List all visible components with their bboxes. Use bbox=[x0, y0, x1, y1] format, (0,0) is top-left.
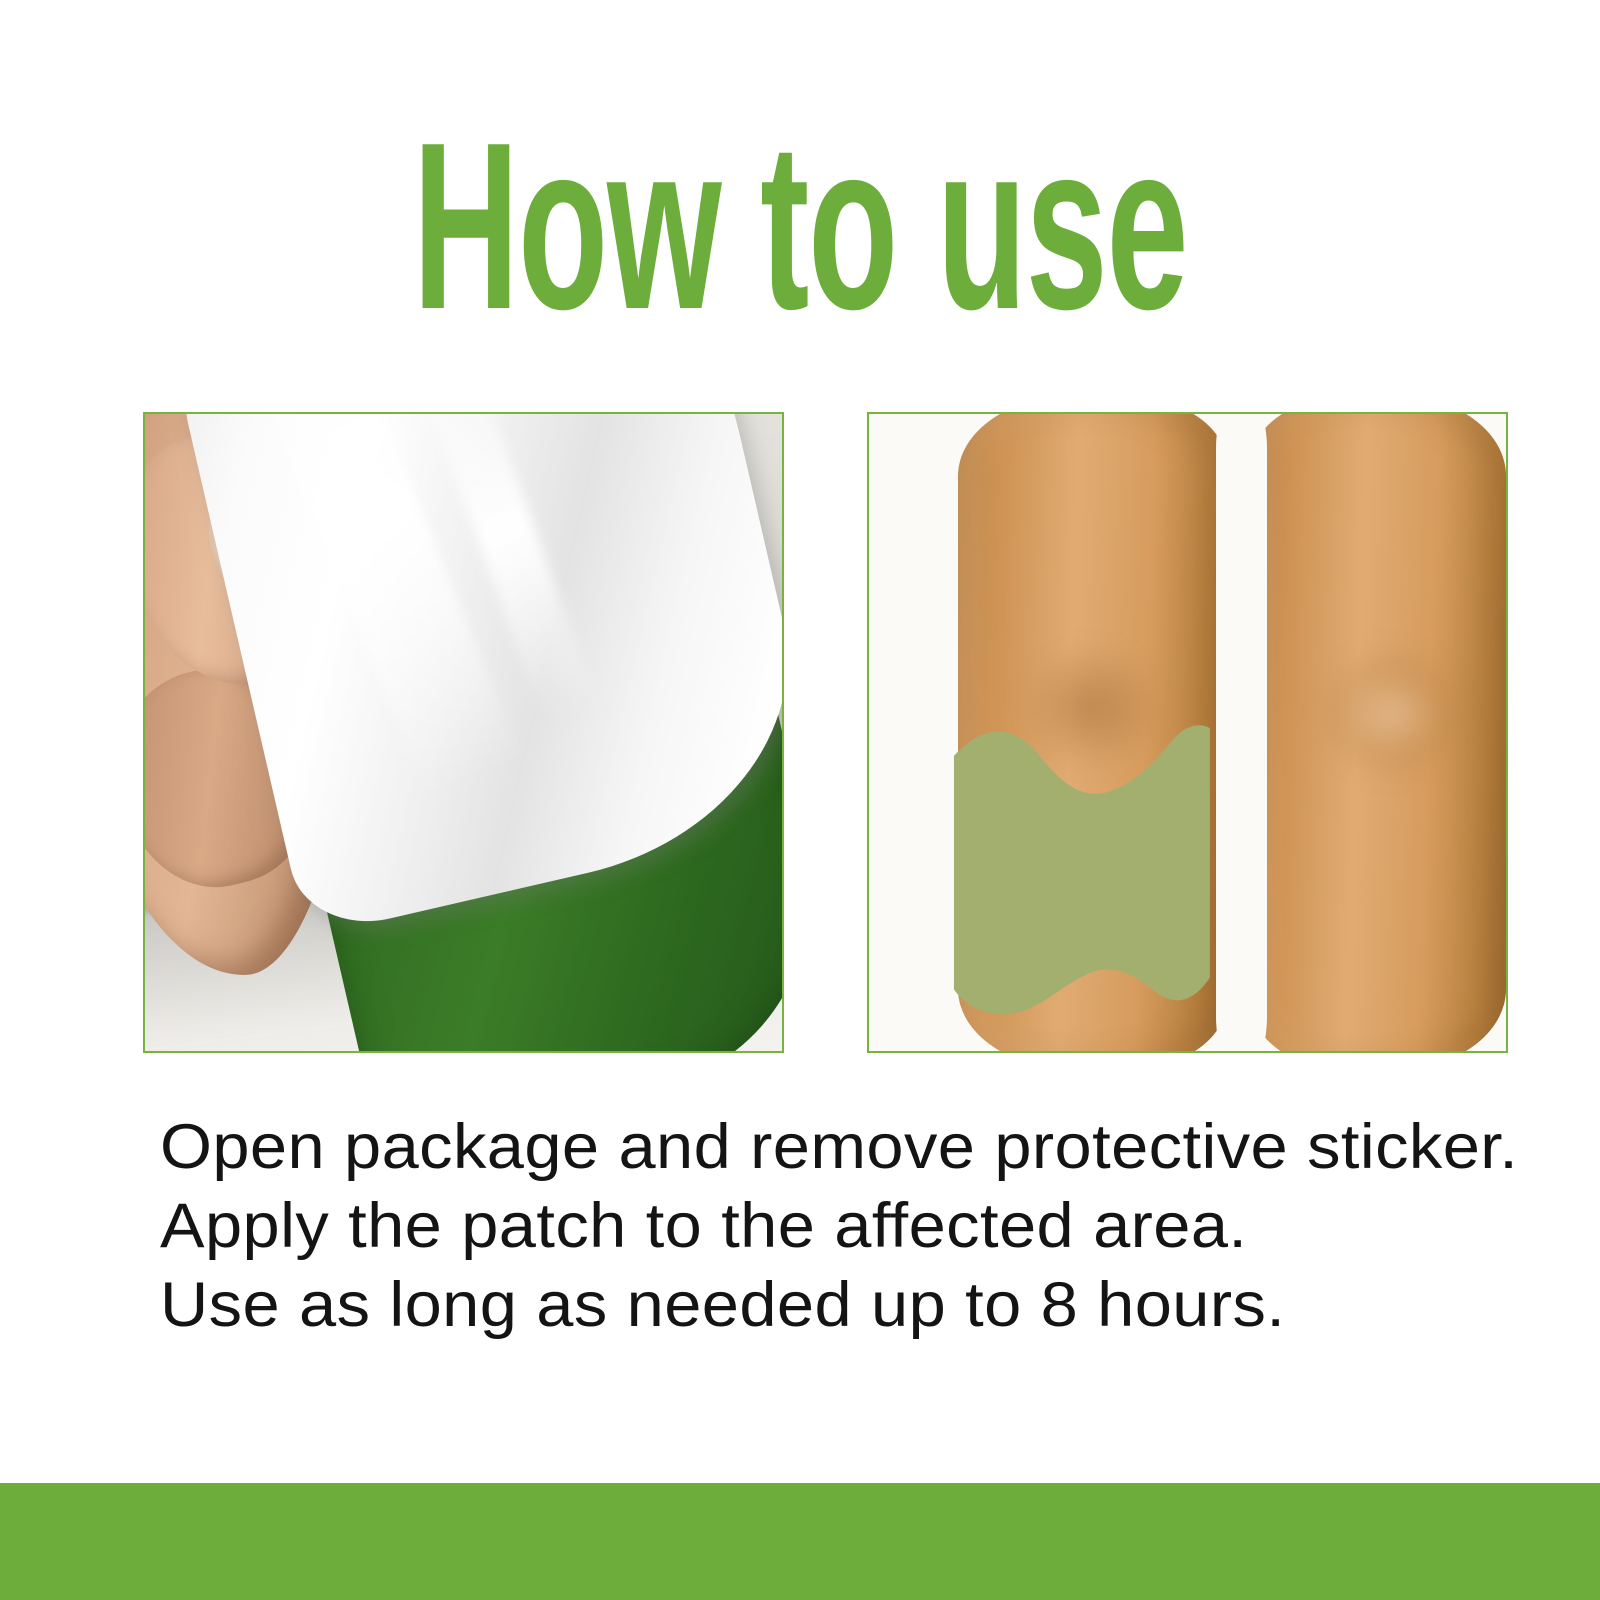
applied-patch-sage-green bbox=[952, 720, 1245, 1019]
page-title: How to use bbox=[304, 108, 1296, 346]
bottom-accent-bar bbox=[0, 1483, 1600, 1600]
instruction-line-2: Apply the patch to the affected area. bbox=[160, 1187, 1600, 1266]
peel-photo bbox=[145, 414, 782, 1051]
step-image-peel-liner bbox=[143, 412, 784, 1053]
instruction-line-1: Open package and remove protective stick… bbox=[160, 1108, 1600, 1187]
instruction-line-3: Use as long as needed up to 8 hours. bbox=[160, 1266, 1600, 1345]
knee-photo bbox=[869, 414, 1506, 1051]
step-image-apply-patch bbox=[867, 412, 1508, 1053]
right-kneecap-highlight bbox=[1340, 669, 1442, 758]
instructions-block: Open package and remove protective stick… bbox=[160, 1108, 1600, 1345]
